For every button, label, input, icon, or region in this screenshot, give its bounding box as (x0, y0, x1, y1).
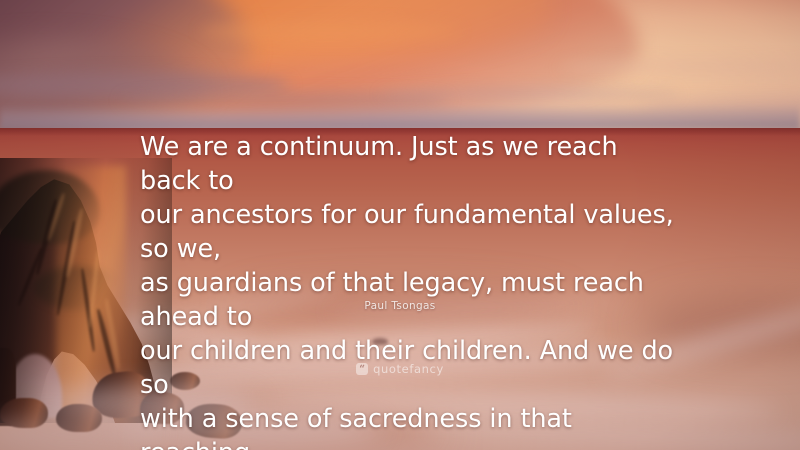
quote-line-5: with a sense of sacredness in that reach… (140, 402, 680, 450)
quotefancy-watermark[interactable]: “ quotefancy (0, 362, 800, 376)
foreground-rock-6 (0, 398, 48, 428)
foreground-rock-4 (56, 404, 102, 432)
watermark-label: quotefancy (373, 362, 444, 376)
cloud-wisp-center (380, 88, 680, 101)
cloud-wisp-top (200, 22, 460, 40)
quote-line-2: our ancestors for our fundamental values… (140, 198, 680, 266)
quote-block: We are a continuum. Just as we reach bac… (140, 130, 680, 450)
quote-author: Paul Tsongas (0, 300, 800, 312)
horizon-haze-band (0, 104, 800, 130)
quote-mark-icon: “ (356, 363, 368, 375)
quote-wallpaper: We are a continuum. Just as we reach bac… (0, 0, 800, 450)
quote-line-1: We are a continuum. Just as we reach bac… (140, 130, 680, 198)
